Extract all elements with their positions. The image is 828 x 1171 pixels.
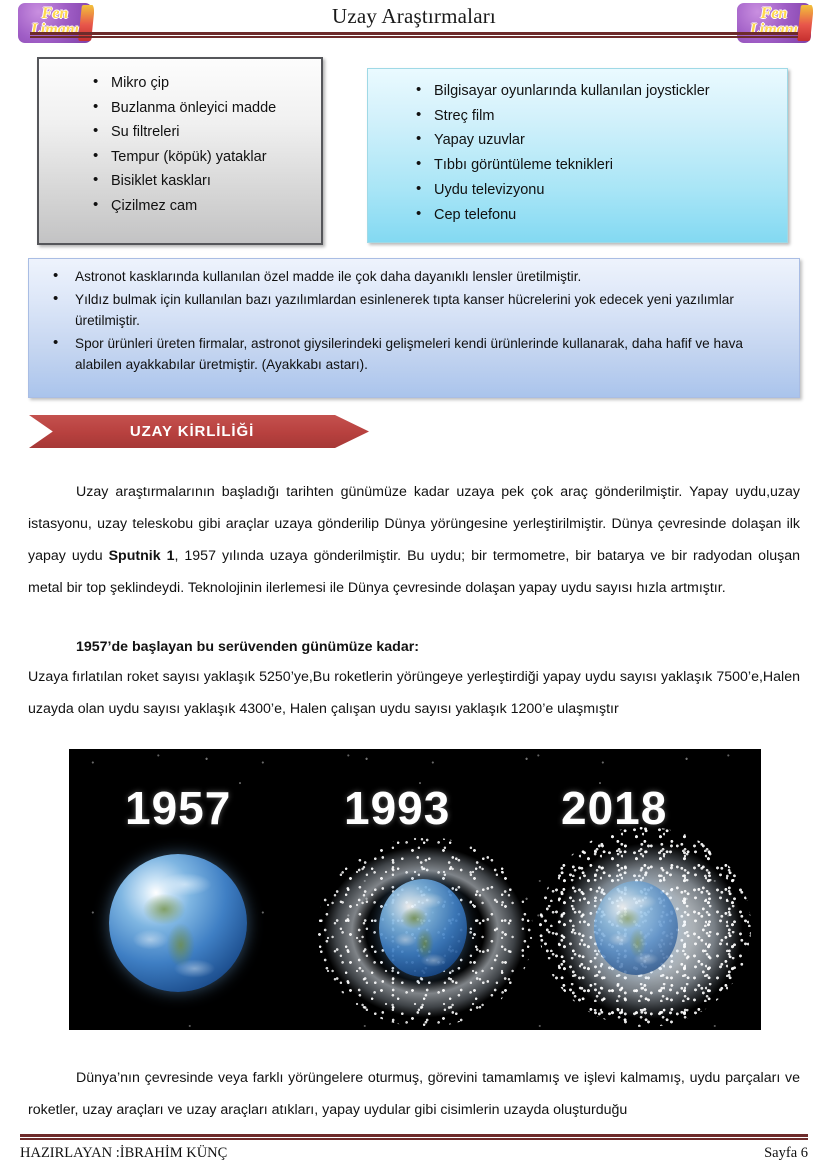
list-item: Su filtreleri <box>87 120 321 145</box>
list-item: Yapay uzuvlar <box>410 128 787 153</box>
header-divider <box>30 32 798 38</box>
paragraph-intro: Uzay araştırmalarının başladığı tarihten… <box>28 476 800 604</box>
footer-divider-thin-line <box>20 1138 808 1140</box>
list-item: Spor ürünleri üreten firmalar, astronot … <box>41 333 785 376</box>
spinoff-list-gray: Mikro çip Buzlanma önleyici madde Su fil… <box>87 71 321 218</box>
header-divider-thin-line <box>30 36 798 38</box>
spinoff-list-box-gray: Mikro çip Buzlanma önleyici madde Su fil… <box>37 57 323 245</box>
logo-fen-limani-left: Fen Limanı <box>16 1 94 45</box>
list-item: Buzlanma önleyici madde <box>87 96 321 121</box>
list-item: Bilgisayar oyunlarında kullanılan joysti… <box>410 79 787 104</box>
spinoff-list-cyan: Bilgisayar oyunlarında kullanılan joysti… <box>410 79 787 227</box>
page-header: Uzay Araştırmaları Fen Limanı Fen Limanı <box>0 0 828 48</box>
paragraph-statistics: Uzaya fırlatılan roket sayısı yaklaşık 5… <box>28 661 800 725</box>
earth-globe-1993 <box>379 879 467 977</box>
header-divider-thick-line <box>30 32 798 35</box>
logo-flag-shape <box>797 5 813 41</box>
list-item: Astronot kasklarında kullanılan özel mad… <box>41 266 785 288</box>
list-item: Streç film <box>410 104 787 129</box>
figure-year-label-1957: 1957 <box>125 781 231 835</box>
list-item: Tıbbı görüntüleme teknikleri <box>410 153 787 178</box>
earth-globe-2018 <box>594 881 678 975</box>
list-item: Cep telefonu <box>410 203 787 228</box>
section-banner-uzay-kirliligi: UZAY KİRLİLİĞİ <box>29 415 369 448</box>
list-item: Uydu televizyonu <box>410 178 787 203</box>
page-title: Uzay Araştırmaları <box>0 4 828 29</box>
figure-year-label-2018: 2018 <box>561 781 667 835</box>
footer-divider-thick-line <box>20 1134 808 1137</box>
spinoff-list-box-cyan: Bilgisayar oyunlarında kullanılan joysti… <box>367 68 788 243</box>
list-item: Mikro çip <box>87 71 321 96</box>
space-debris-figure: 1957 1993 2018 <box>69 749 761 1030</box>
logo-fen-limani-right: Fen Limanı <box>735 1 813 45</box>
intro-bold-sputnik: Sputnik 1 <box>109 548 175 564</box>
page-footer: HAZIRLAYAN :İBRAHİM KÜNÇ Sayfa 6 <box>20 1145 808 1162</box>
spinoff-details-box-blue: Astronot kasklarında kullanılan özel mad… <box>28 258 800 398</box>
paragraph-heading-1957: 1957’de başlayan bu serüvenden günümüze … <box>28 631 800 663</box>
footer-divider <box>20 1134 808 1140</box>
document-page: Uzay Araştırmaları Fen Limanı Fen Limanı… <box>0 0 828 1171</box>
earth-globe-1957 <box>109 854 247 992</box>
list-item: Yıldız bulmak için kullanılan bazı yazıl… <box>41 289 785 332</box>
figure-year-label-1993: 1993 <box>344 781 450 835</box>
spinoff-details-list: Astronot kasklarında kullanılan özel mad… <box>41 266 785 376</box>
banner-label: UZAY KİRLİLİĞİ <box>29 415 369 448</box>
list-item: Çizilmez cam <box>87 194 321 219</box>
footer-prepared-by: HAZIRLAYAN :İBRAHİM KÜNÇ <box>20 1145 227 1162</box>
list-item: Bisiklet kaskları <box>87 169 321 194</box>
footer-page-number: Sayfa 6 <box>764 1145 808 1162</box>
list-item: Tempur (köpük) yataklar <box>87 145 321 170</box>
paragraph-closing: Dünya’nın çevresinde veya farklı yörünge… <box>28 1062 800 1126</box>
